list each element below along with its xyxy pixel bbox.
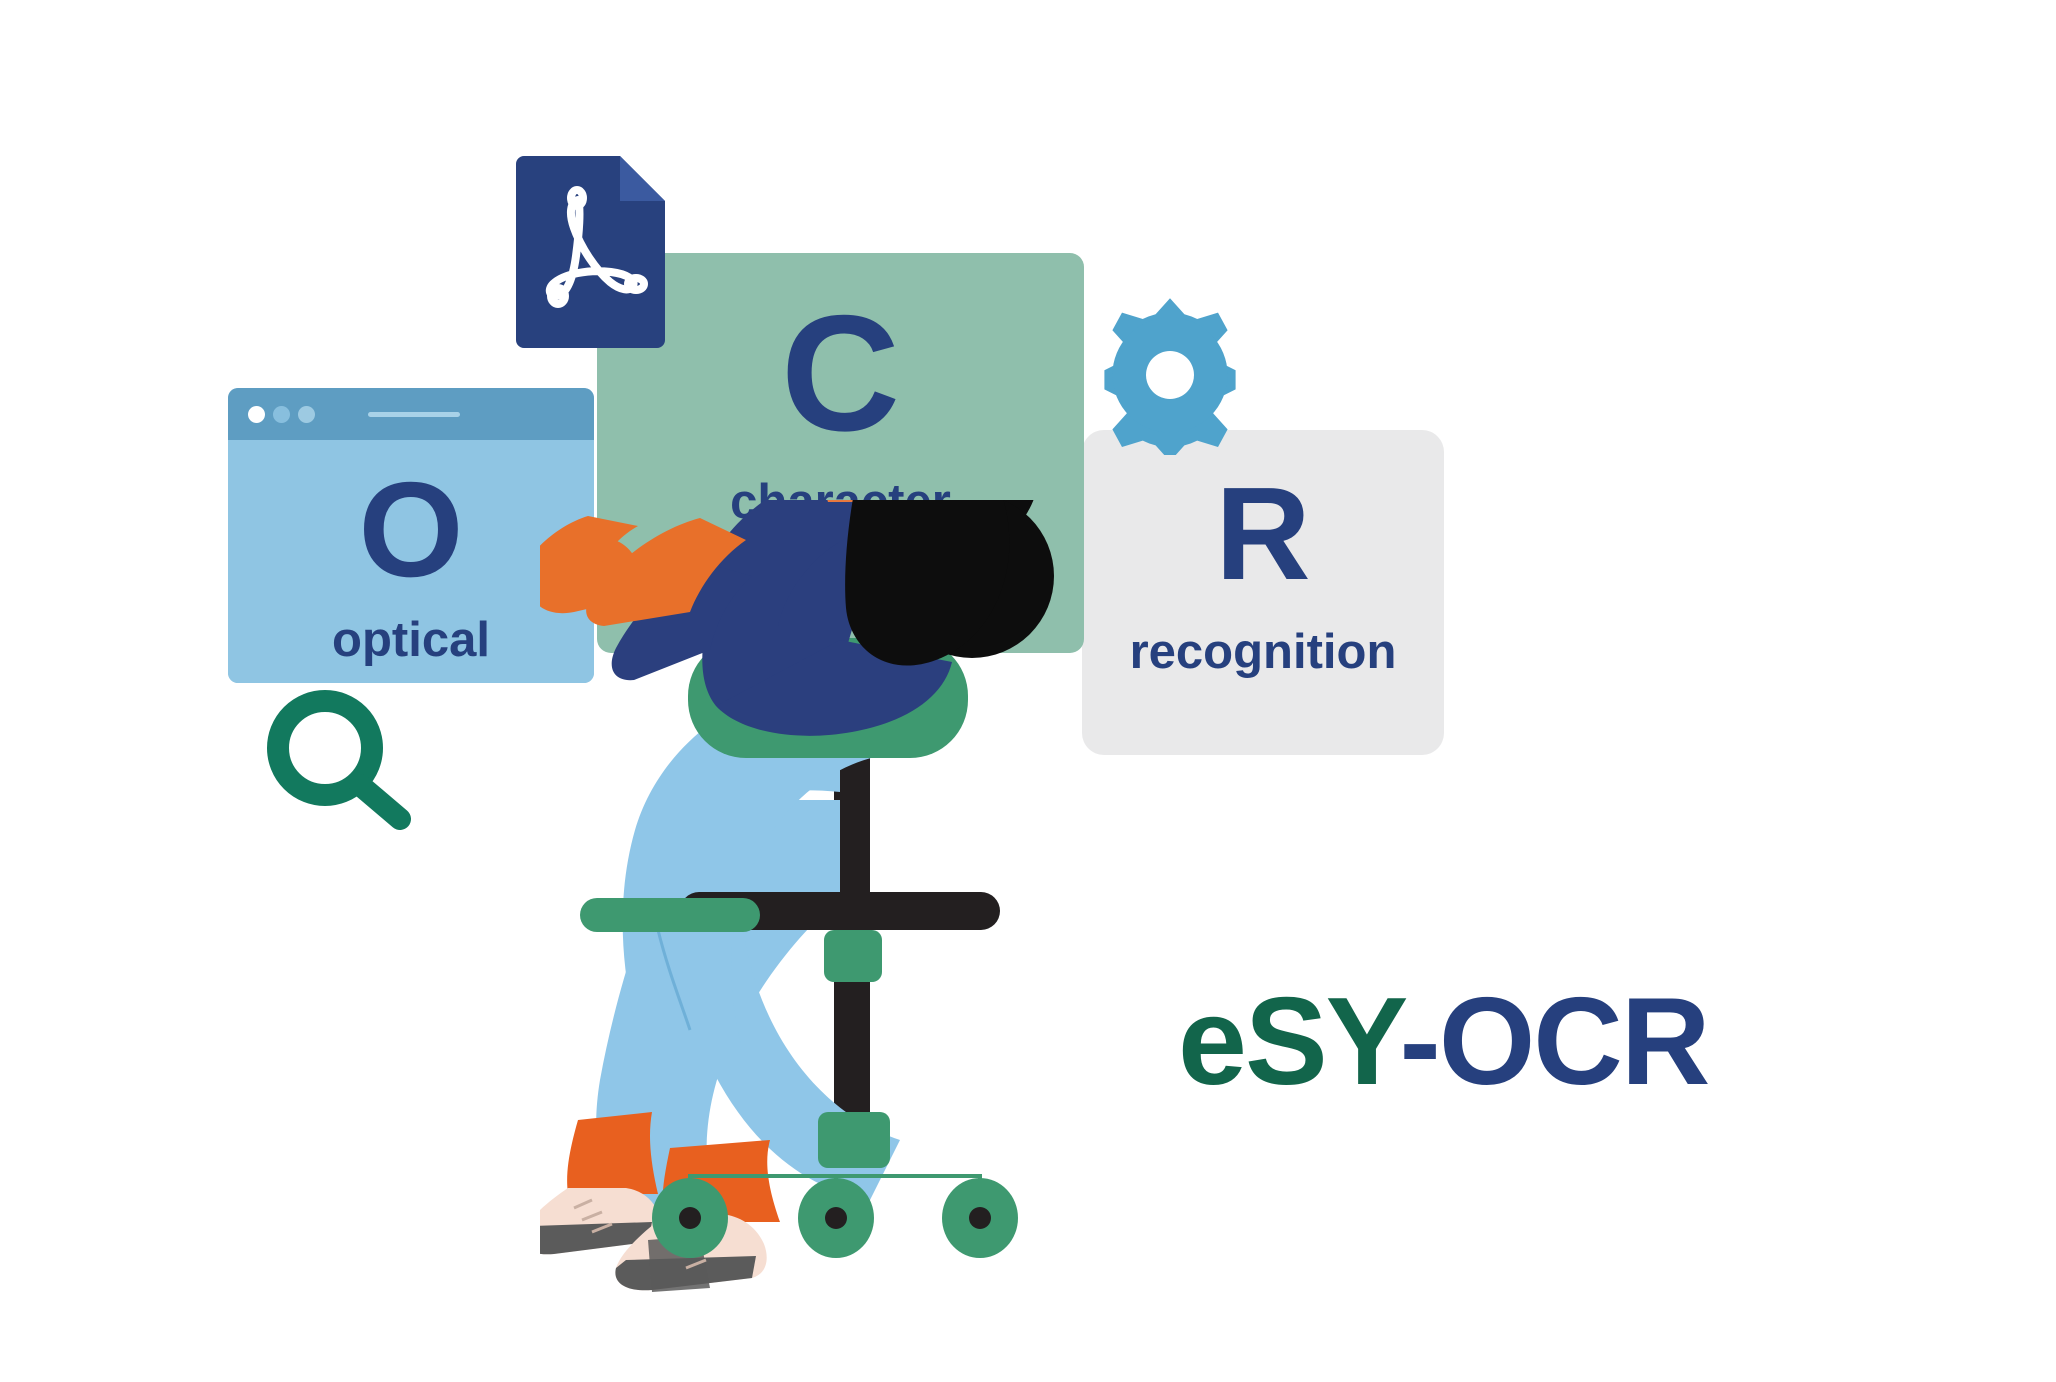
- close-dot-icon: [248, 406, 265, 423]
- chair-collar: [824, 930, 882, 982]
- sock-back: [567, 1112, 658, 1194]
- magnifying-glass-icon: [263, 688, 423, 838]
- maximize-dot-icon: [298, 406, 315, 423]
- chair-footrest: [580, 898, 760, 932]
- person-pointing-illustration: [540, 500, 1180, 1320]
- gear-icon: [1090, 295, 1250, 455]
- address-bar: [368, 412, 460, 417]
- logo-prefix: eSY: [1178, 973, 1400, 1111]
- chair-casters: [652, 1178, 1018, 1258]
- minimize-dot-icon: [273, 406, 290, 423]
- pdf-file-icon: [508, 148, 673, 348]
- brand-logo: eSY-OCR: [1178, 980, 1708, 1104]
- illustration-canvas: O optical C character R recognition: [0, 0, 2056, 1382]
- chair-base-hub: [818, 1112, 890, 1168]
- browser-titlebar: [228, 388, 594, 440]
- logo-suffix: -OCR: [1400, 973, 1709, 1111]
